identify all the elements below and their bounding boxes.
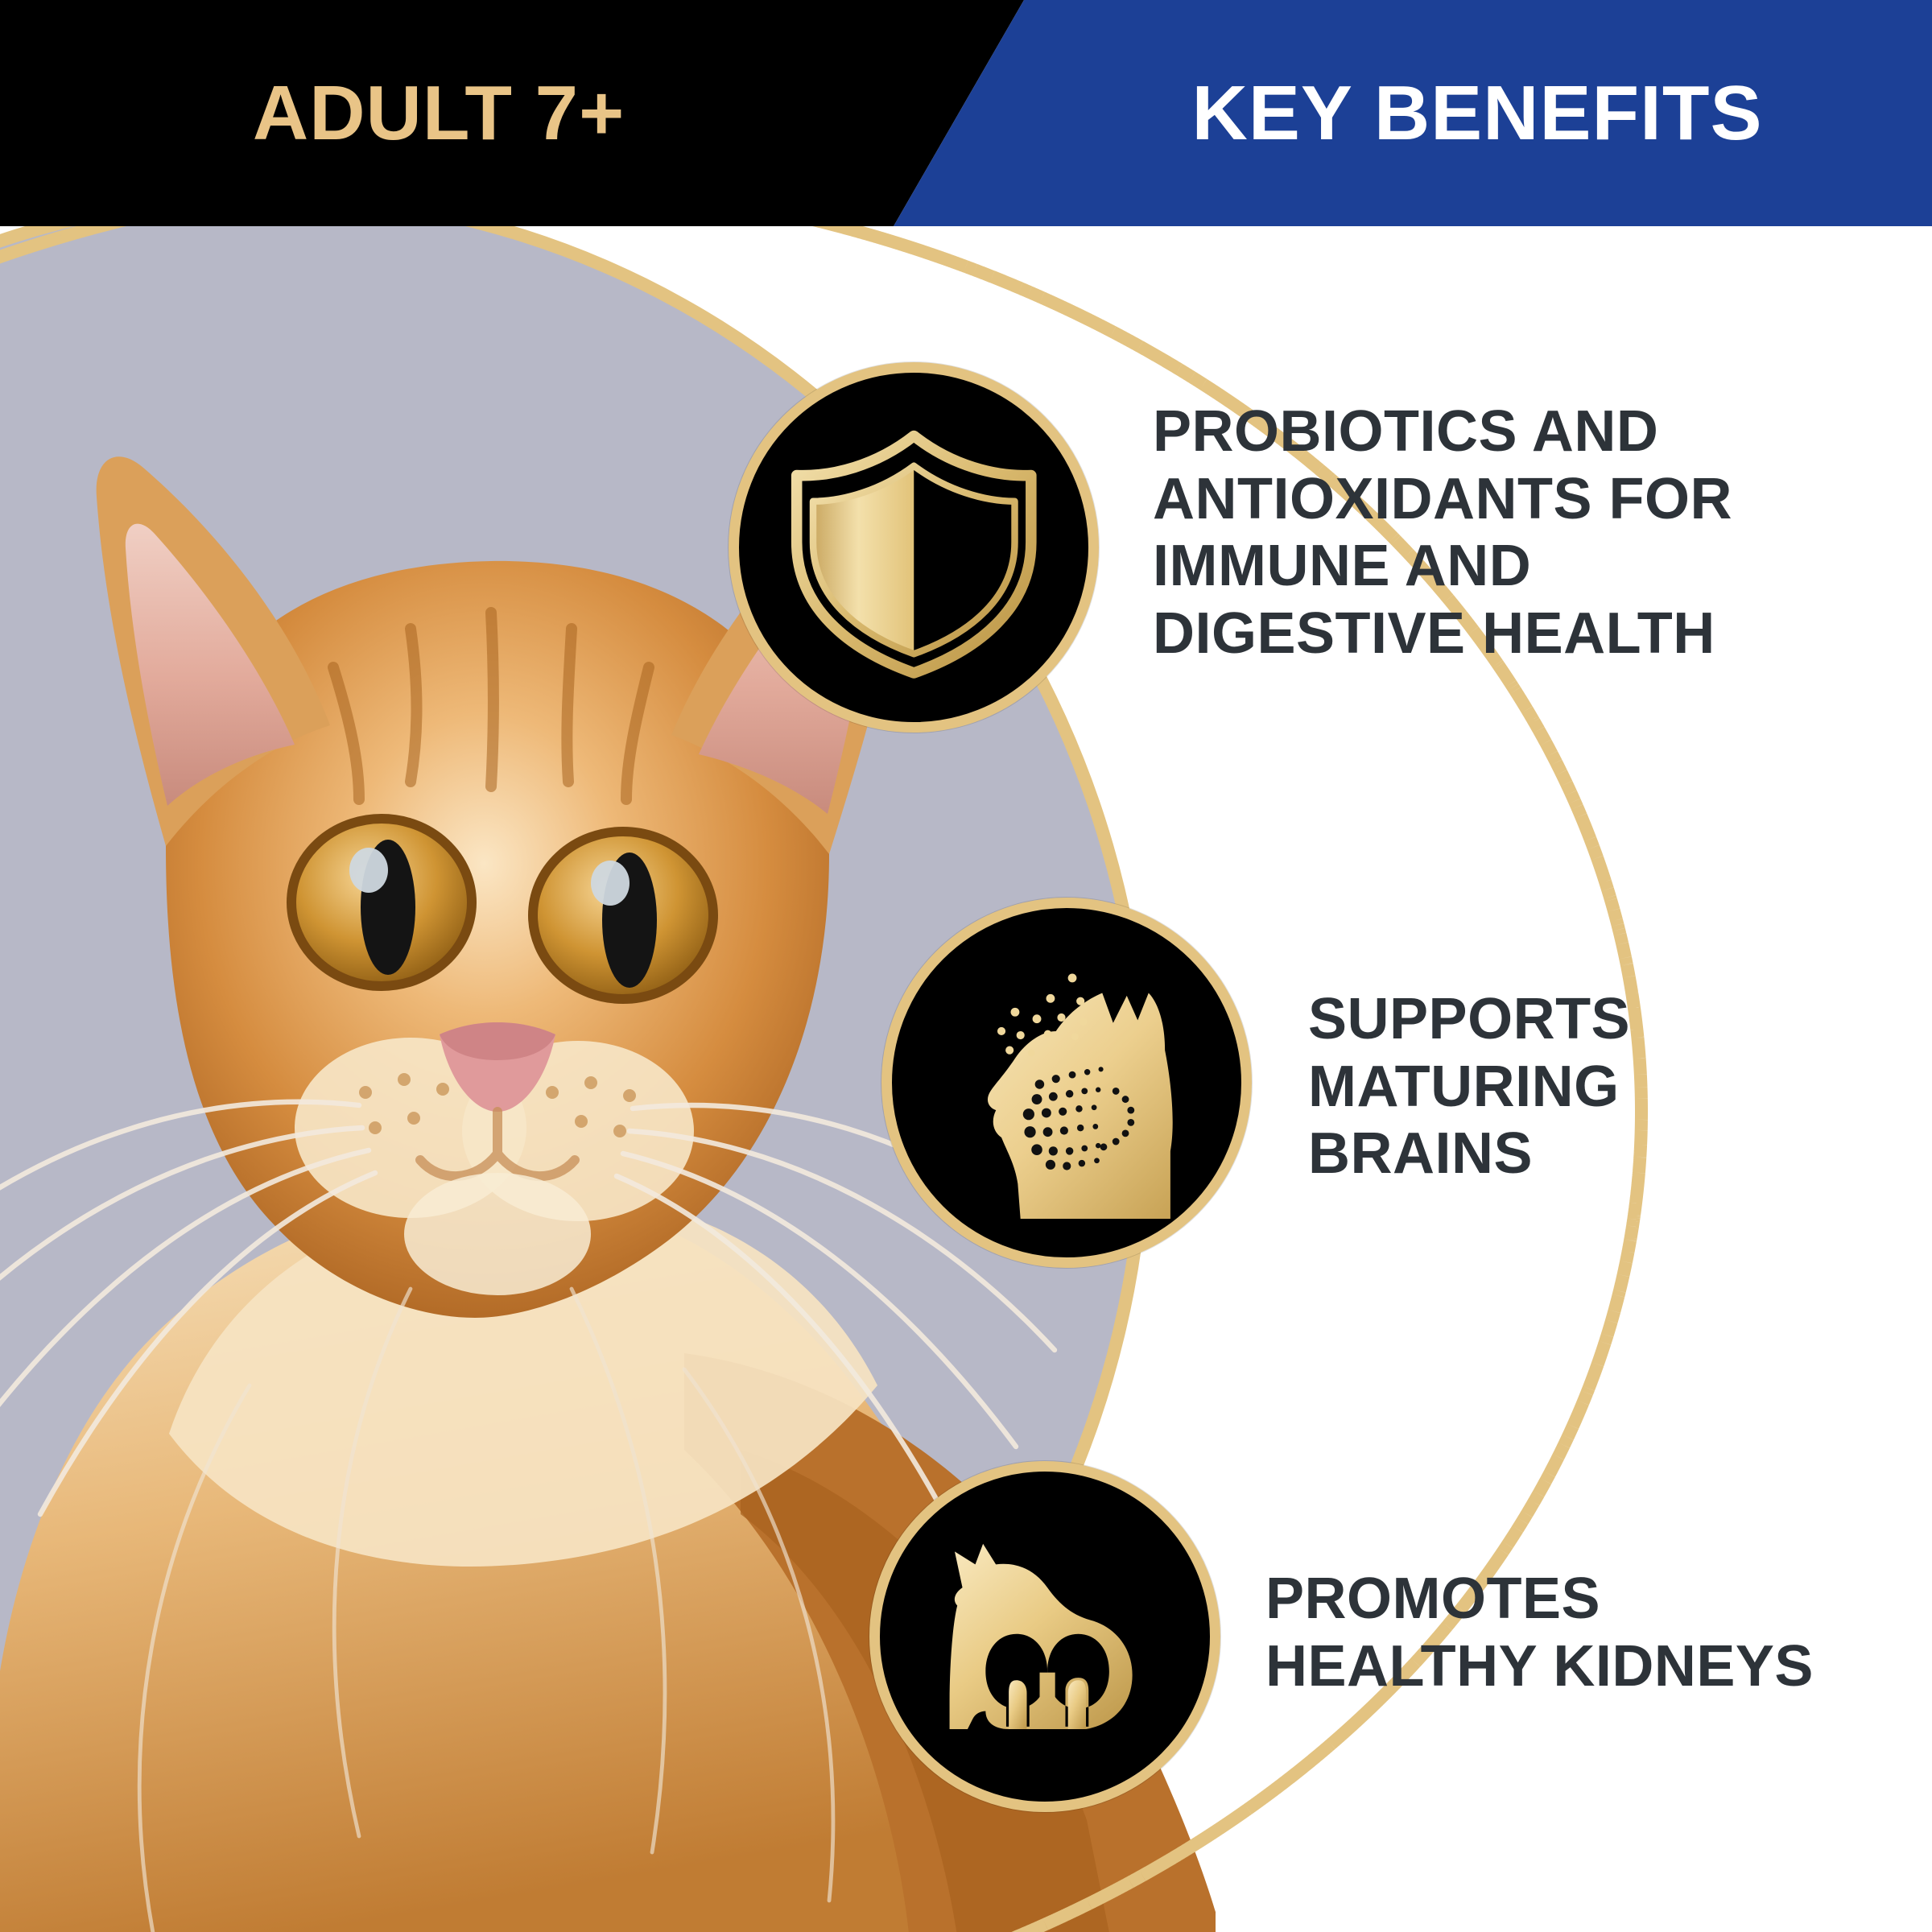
- benefit-icon-badge-1[interactable]: [729, 362, 1099, 733]
- benefit-label-2-line-1: SUPPORTS: [1308, 986, 1872, 1054]
- shield-icon: [778, 411, 1051, 684]
- benefit-icon-badge-3[interactable]: [869, 1461, 1220, 1812]
- benefit-label-1-line-2: ANTIOXIDANTS FOR: [1153, 466, 1861, 534]
- benefit-label-1: PROBIOTICS AND ANTIOXIDANTS FOR IMMUNE A…: [1153, 398, 1861, 667]
- pack-panel-key-benefits: ADULT 7+ KEY BENEFITS: [0, 0, 1932, 1932]
- key-benefits-title: KEY BENEFITS: [1022, 0, 1932, 226]
- benefit-label-1-line-3: IMMUNE AND: [1153, 533, 1861, 601]
- life-stage-label: ADULT 7+: [0, 0, 934, 226]
- benefit-label-1-line-4: DIGESTIVE HEALTH: [1153, 601, 1861, 668]
- cat-brain-icon: [931, 947, 1203, 1220]
- benefit-label-1-line-1: PROBIOTICS AND: [1153, 398, 1861, 466]
- cat-kidney-icon: [916, 1508, 1174, 1765]
- benefit-label-3: PROMOTES HEALTHY KIDNEYS: [1265, 1566, 1901, 1700]
- benefit-label-3-line-2: HEALTHY KIDNEYS: [1265, 1633, 1901, 1701]
- benefit-label-2-line-2: MATURING: [1308, 1054, 1872, 1121]
- benefit-label-2: SUPPORTS MATURING BRAINS: [1308, 986, 1872, 1188]
- header-banner: ADULT 7+ KEY BENEFITS: [0, 0, 1932, 226]
- benefit-label-3-line-1: PROMOTES: [1265, 1566, 1901, 1633]
- benefit-icon-badge-2[interactable]: [881, 898, 1252, 1268]
- benefit-label-2-line-3: BRAINS: [1308, 1121, 1872, 1188]
